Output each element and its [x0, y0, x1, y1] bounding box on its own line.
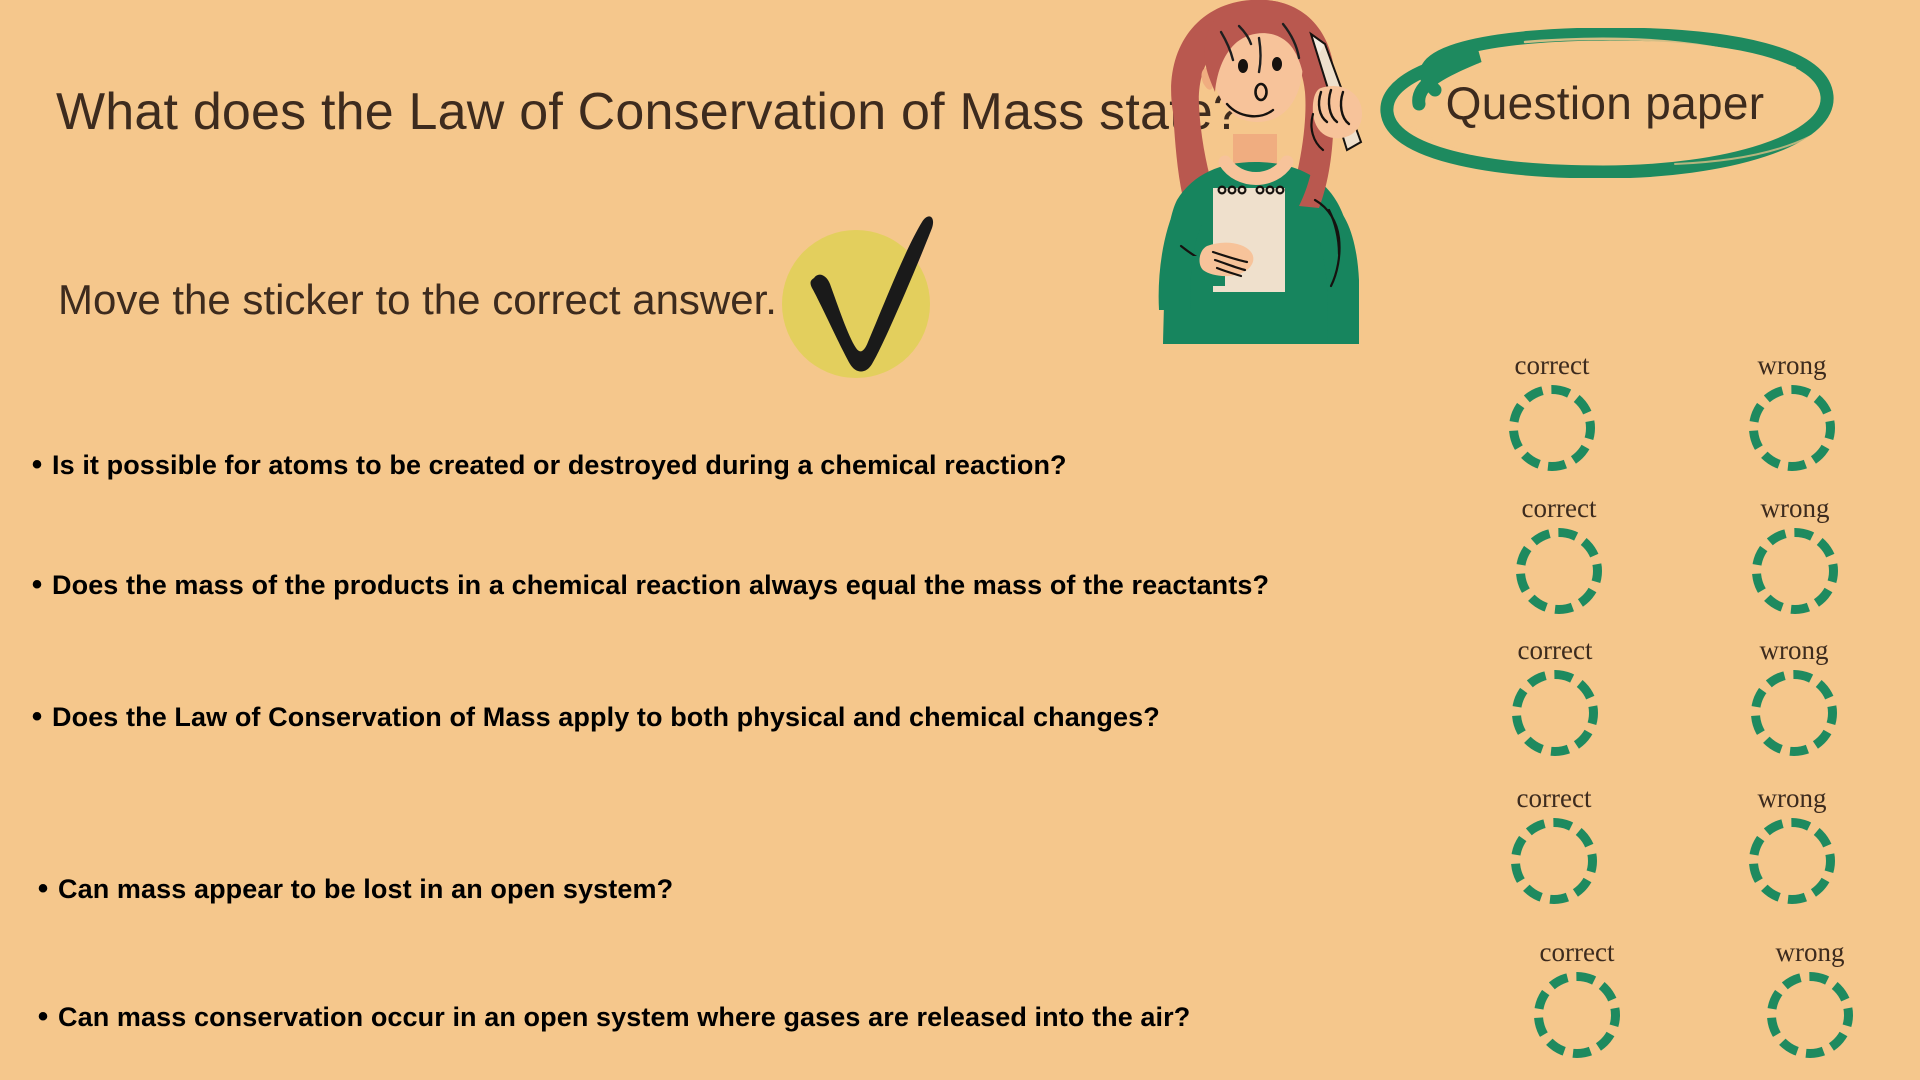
page-title: What does the Law of Conservation of Mas… [56, 82, 1242, 142]
answer-slot-correct[interactable]: correct [1512, 939, 1642, 1058]
answer-slot-correct[interactable]: correct [1489, 785, 1619, 904]
drop-target-circle[interactable] [1509, 385, 1595, 471]
question-paper-label: Question paper [1375, 28, 1835, 178]
answer-slot-wrong[interactable]: wrong [1727, 352, 1857, 471]
answer-label-correct: correct [1512, 939, 1642, 966]
drop-target-circle[interactable] [1749, 385, 1835, 471]
list-item: • Can mass appear to be lost in an open … [28, 874, 673, 905]
answer-slot-wrong[interactable]: wrong [1729, 637, 1859, 756]
bullet-icon: • [22, 570, 52, 600]
drop-target-circle[interactable] [1534, 972, 1620, 1058]
answer-slot-wrong[interactable]: wrong [1727, 785, 1857, 904]
drop-target-circle[interactable] [1767, 972, 1853, 1058]
worksheet-slide: What does the Law of Conservation of Mas… [0, 0, 1920, 1080]
drop-target-circle[interactable] [1751, 670, 1837, 756]
answer-slot-correct[interactable]: correct [1490, 637, 1620, 756]
list-item: • Does the Law of Conservation of Mass a… [22, 702, 1160, 733]
answer-slot-wrong[interactable]: wrong [1745, 939, 1875, 1058]
bullet-icon: • [22, 450, 52, 480]
instruction-text: Move the sticker to the correct answer. [58, 276, 777, 324]
drop-target-circle[interactable] [1512, 670, 1598, 756]
list-item: • Is it possible for atoms to be created… [22, 450, 1067, 481]
student-with-notepad-illustration [1115, 0, 1415, 344]
answer-label-wrong: wrong [1729, 637, 1859, 664]
check-mark-sticker[interactable] [782, 230, 930, 378]
drop-target-circle[interactable] [1752, 528, 1838, 614]
question-text: Does the mass of the products in a chemi… [52, 570, 1269, 601]
drop-target-circle[interactable] [1749, 818, 1835, 904]
answer-label-correct: correct [1489, 785, 1619, 812]
answer-label-wrong: wrong [1730, 495, 1860, 522]
question-text: Can mass appear to be lost in an open sy… [58, 874, 673, 905]
list-item: • Can mass conservation occur in an open… [28, 1002, 1190, 1033]
check-icon [772, 202, 952, 392]
drop-target-circle[interactable] [1516, 528, 1602, 614]
answer-slot-correct[interactable]: correct [1487, 352, 1617, 471]
answer-label-correct: correct [1490, 637, 1620, 664]
question-text: Does the Law of Conservation of Mass app… [52, 702, 1160, 733]
question-text: Is it possible for atoms to be created o… [52, 450, 1067, 481]
bullet-icon: • [22, 702, 52, 732]
answer-label-wrong: wrong [1727, 785, 1857, 812]
answer-slot-wrong[interactable]: wrong [1730, 495, 1860, 614]
answer-label-correct: correct [1487, 352, 1617, 379]
bullet-icon: • [28, 874, 58, 904]
bullet-icon: • [28, 1002, 58, 1032]
answer-label-wrong: wrong [1745, 939, 1875, 966]
question-paper-badge: Question paper [1375, 28, 1835, 178]
drop-target-circle[interactable] [1511, 818, 1597, 904]
question-text: Can mass conservation occur in an open s… [58, 1002, 1190, 1033]
answer-label-correct: correct [1494, 495, 1624, 522]
list-item: • Does the mass of the products in a che… [22, 570, 1269, 601]
answer-slot-correct[interactable]: correct [1494, 495, 1624, 614]
answer-label-wrong: wrong [1727, 352, 1857, 379]
